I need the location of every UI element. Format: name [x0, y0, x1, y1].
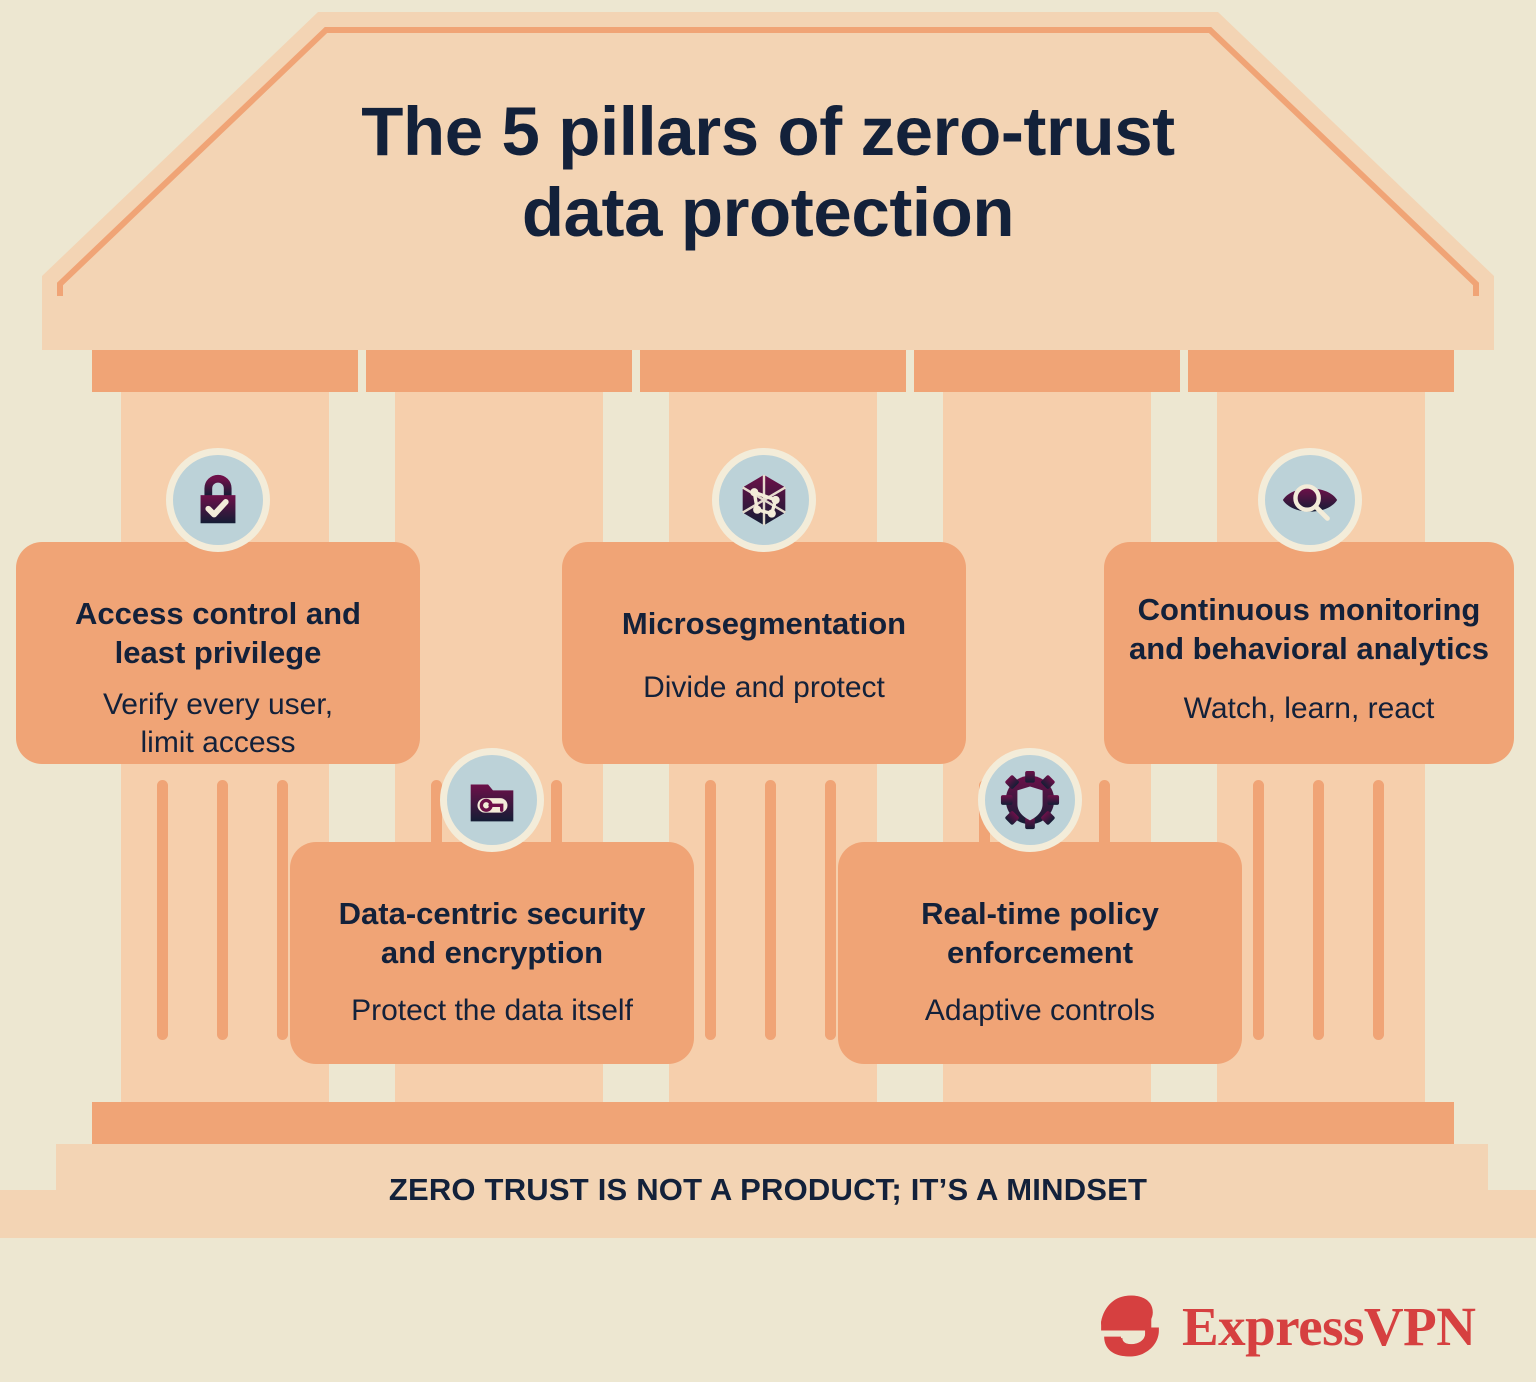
expressvpn-e-mark	[1092, 1288, 1168, 1364]
infographic-poster: The 5 pillars of zero-trust data protect…	[0, 0, 1536, 1382]
base-step-upper	[92, 1102, 1454, 1144]
pillar-flute	[1313, 780, 1324, 1040]
pillar-flute	[277, 780, 288, 1040]
expressvpn-logo[interactable]: ExpressVPN	[1092, 1288, 1475, 1364]
pillar-card-1[interactable]: Access control and least privilege Verif…	[16, 542, 420, 764]
pillar-card-title: Data-centric security and encryption	[312, 894, 672, 972]
pillar-card-subtitle: Adaptive controls	[860, 992, 1220, 1030]
pillar-card-title: Continuous monitoring and behavioral ana…	[1118, 590, 1500, 668]
pillar-card-title: Access control and least privilege	[38, 594, 398, 672]
footer-tagline: ZERO TRUST IS NOT A PRODUCT; IT’S A MIND…	[0, 1172, 1536, 1208]
pillar-card-5[interactable]: Continuous monitoring and behavioral ana…	[1104, 542, 1514, 764]
pillar-flute	[765, 780, 776, 1040]
title-line-1: The 5 pillars of zero-trust	[0, 92, 1536, 173]
title-line-2: data protection	[0, 173, 1536, 254]
pillar-flute	[825, 780, 836, 1040]
pillar-card-title: Real-time policy enforcement	[860, 894, 1220, 972]
pillar-flute	[1253, 780, 1264, 1040]
pillar-capital	[366, 350, 632, 392]
pillar-capital	[1188, 350, 1454, 392]
hexagon-network-icon	[712, 448, 816, 552]
pillar-flute	[1373, 780, 1384, 1040]
pillar-flute	[157, 780, 168, 1040]
pillar-capital	[92, 350, 358, 392]
pillar-card-subtitle: Protect the data itself	[312, 992, 672, 1030]
pillar-capital	[640, 350, 906, 392]
pillar-capital	[914, 350, 1180, 392]
pillar-flute	[217, 780, 228, 1040]
pillar-card-3[interactable]: Microsegmentation Divide and protect	[562, 542, 966, 764]
page-title: The 5 pillars of zero-trust data protect…	[0, 92, 1536, 253]
eye-magnifier-icon	[1258, 448, 1362, 552]
pillar-card-2[interactable]: Data-centric security and encryption Pro…	[290, 842, 694, 1064]
folder-key-icon	[440, 748, 544, 852]
pillar-card-subtitle: Divide and protect	[584, 669, 944, 707]
architrave	[42, 296, 1494, 350]
padlock-check-icon	[166, 448, 270, 552]
expressvpn-wordmark: ExpressVPN	[1182, 1295, 1475, 1358]
pillar-flute	[705, 780, 716, 1040]
pillar-card-subtitle: Watch, learn, react	[1118, 690, 1500, 728]
pillar-card-title: Microsegmentation	[584, 604, 944, 643]
gear-shield-icon	[978, 748, 1082, 852]
pillar-card-subtitle: Verify every user, limit access	[38, 686, 398, 762]
pillar-card-4[interactable]: Real-time policy enforcement Adaptive co…	[838, 842, 1242, 1064]
